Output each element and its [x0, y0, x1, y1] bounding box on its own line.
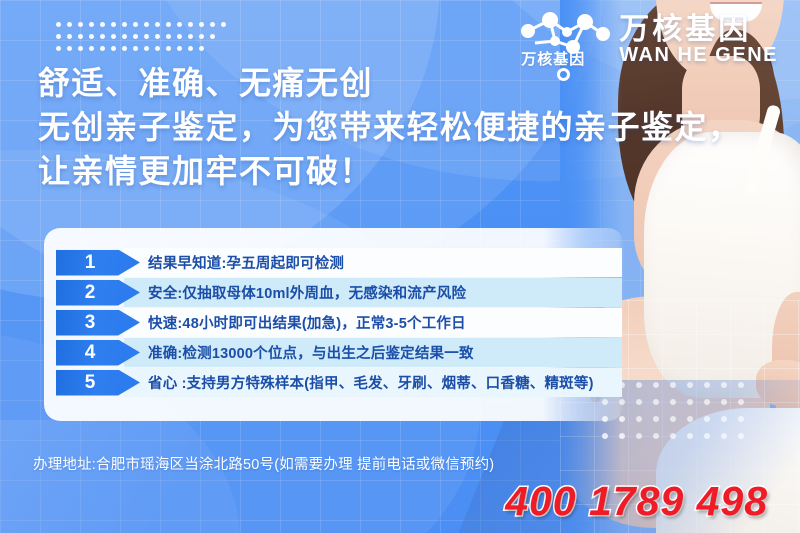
feature-text: 省心 :支持男方特殊样本(指甲、毛发、牙刷、烟蒂、口香糖、精斑等) — [148, 372, 594, 393]
headline-line-1: 舒适、准确、无痛无创 — [38, 62, 658, 106]
feature-list: 1结果早知道:孕五周起即可检测2安全:仅抽取母体10ml外周血，无感染和流产风险… — [56, 248, 622, 398]
dot-pattern-top — [56, 22, 226, 56]
feature-text: 结果早知道:孕五周起即可检测 — [148, 252, 344, 273]
feature-row: 4准确:检测13000个位点，与出生之后鉴定结果一致 — [56, 338, 622, 367]
promo-banner: 万核基因 万核基因 WAN HE GENE 舒适、准确、无痛无创 无创亲子鉴定，… — [0, 0, 800, 533]
feature-row: 2安全:仅抽取母体10ml外周血，无感染和流产风险 — [56, 278, 622, 307]
office-address: 办理地址:合肥市瑶海区当涂北路50号(如需要办理 提前电话或微信预约) — [33, 453, 494, 474]
headline-block: 舒适、准确、无痛无创 无创亲子鉴定，为您带来轻松便捷的亲子鉴定， 让亲情更加牢不… — [38, 62, 658, 193]
dot-pattern-bottom-right — [602, 382, 752, 440]
feature-row: 1结果早知道:孕五周起即可检测 — [56, 248, 622, 277]
feature-text: 快速:48小时即可出结果(加急)，正常3-5个工作日 — [148, 312, 466, 333]
feature-row: 5省心 :支持男方特殊样本(指甲、毛发、牙刷、烟蒂、口香糖、精斑等) — [56, 368, 622, 397]
decor-ribbon-left — [0, 420, 199, 533]
headline-line-3: 让亲情更加牢不可破！ — [38, 150, 658, 194]
feature-row: 3快速:48小时即可出结果(加急)，正常3-5个工作日 — [56, 308, 622, 337]
brand-name-cn: 万核基因 — [619, 14, 778, 46]
feature-text: 准确:检测13000个位点，与出生之后鉴定结果一致 — [148, 342, 474, 363]
hotline-number: 400 1789 498 — [505, 478, 768, 525]
headline-line-2: 无创亲子鉴定，为您带来轻松便捷的亲子鉴定， — [38, 106, 658, 150]
feature-text: 安全:仅抽取母体10ml外周血，无感染和流产风险 — [148, 282, 466, 303]
